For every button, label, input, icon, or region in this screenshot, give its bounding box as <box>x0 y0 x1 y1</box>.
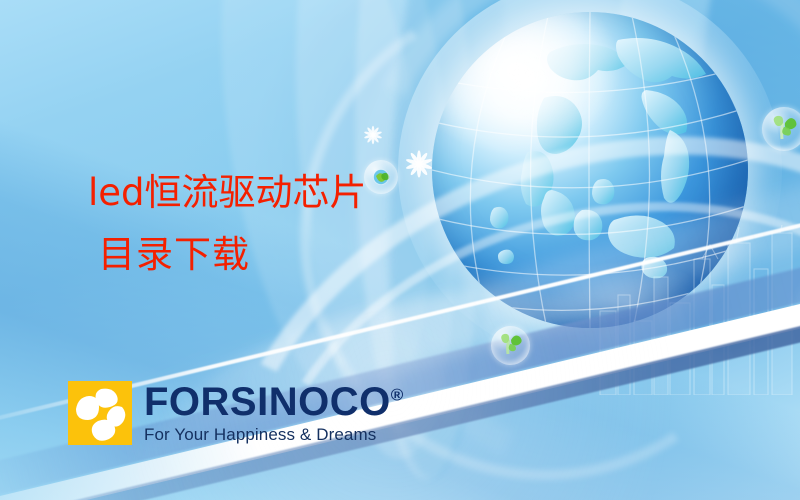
promo-banner: led恒流驱动芯片 目录下载 FORSINOCO® For Your Happi… <box>0 0 800 500</box>
flower-sprite-1-icon <box>404 149 434 179</box>
city-skyline-silhouette <box>590 225 800 395</box>
logo-text-block: FORSINOCO® For Your Happiness & Dreams <box>144 382 404 445</box>
headline-line-1: led恒流驱动芯片 <box>88 171 367 214</box>
mini-globe-icon <box>364 160 398 194</box>
flower-sprite-2-icon <box>363 125 383 145</box>
logo-wordmark-text: FORSINOCO <box>144 380 391 424</box>
headline-line-2: 目录下载 <box>88 224 367 286</box>
headline: led恒流驱动芯片 目录下载 <box>88 162 367 286</box>
bubble-with-mini-globe <box>364 160 398 194</box>
pinwheel-logo-icon <box>68 381 132 445</box>
bubble-with-sprout <box>491 326 530 365</box>
bubble-edge-right <box>762 107 800 151</box>
four-petal-pinwheel-icon <box>68 381 132 445</box>
logo-wordmark: FORSINOCO® <box>144 382 404 422</box>
green-sprout-icon <box>491 326 530 365</box>
registered-trademark-icon: ® <box>391 385 404 404</box>
green-sprout-icon-2 <box>762 107 800 151</box>
company-logo: FORSINOCO® For Your Happiness & Dreams <box>68 381 404 445</box>
logo-tagline: For Your Happiness & Dreams <box>144 425 404 445</box>
